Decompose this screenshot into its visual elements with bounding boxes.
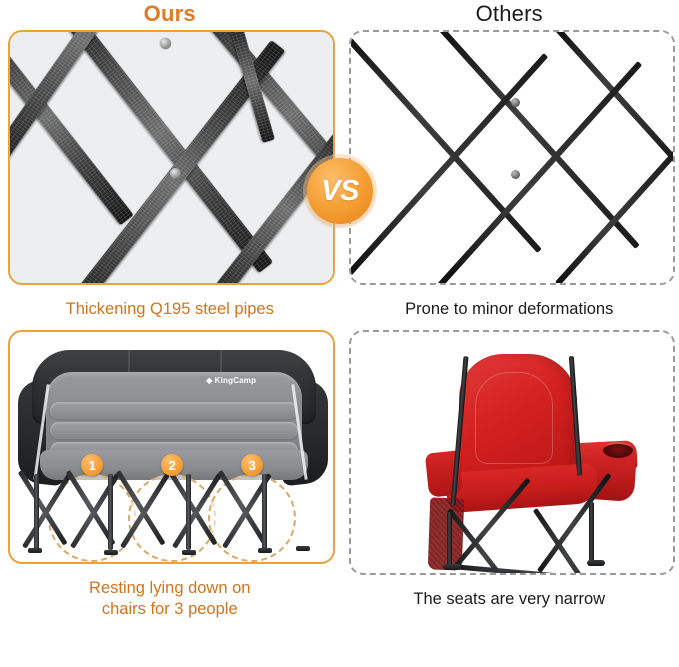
comparison-row-1: Thickening Q195 steel pipes Prone to min… [0,30,679,330]
row-2-others-caption: The seats are very narrow [340,589,679,610]
column-headers: Ours Others [0,0,679,30]
sofa-leg-assembly [10,472,333,564]
row-1-others-caption-line-1: Prone to minor deformations [405,300,613,318]
row-1-others-cell: Prone to minor deformations [340,30,679,330]
comparison-infographic: Ours Others [0,0,679,667]
kingcamp-wordmark: KingCamp [215,376,257,385]
row-1-others-panel [349,30,675,285]
row-2-ours-panel: ◆KingCamp [8,330,335,564]
chair-foot-rear-right [587,560,605,566]
thick-steel-frame-image [10,32,333,283]
header-ours: Ours [0,0,340,30]
red-camping-chair-image [351,332,673,573]
row-2-others-cell: The seats are very narrow [340,330,679,620]
header-others: Others [340,0,679,30]
row-2-ours-caption-line-2: chairs for 3 people [0,599,340,620]
kingcamp-logo: ◆KingCamp [206,376,256,385]
vs-badge-row-1: VS [307,158,373,224]
chair-backrest-stitching [475,372,553,464]
row-1-ours-caption: Thickening Q195 steel pipes [0,299,340,320]
row-2-others-caption-line-1: The seats are very narrow [413,590,605,608]
row-2-others-panel [349,330,675,575]
thin-steel-frame-image [351,32,673,283]
row-1-others-caption: Prone to minor deformations [340,299,679,320]
comparison-row-2: ◆KingCamp [0,330,679,620]
row-1-ours-panel [8,30,335,285]
row-2-ours-caption: Resting lying down on chairs for 3 peopl… [0,578,340,620]
row-2-ours-cell: ◆KingCamp [0,330,340,620]
row-2-ours-caption-line-1: Resting lying down on [0,578,340,599]
chair-foot-front-right [503,570,521,575]
row-1-ours-cell: Thickening Q195 steel pipes [0,30,340,330]
chair-foot-front-left [443,564,461,570]
three-seat-sofa-image: ◆KingCamp [10,332,333,562]
row-1-ours-caption-line-1: Thickening Q195 steel pipes [66,300,274,318]
kingcamp-mark: ◆ [206,376,212,385]
